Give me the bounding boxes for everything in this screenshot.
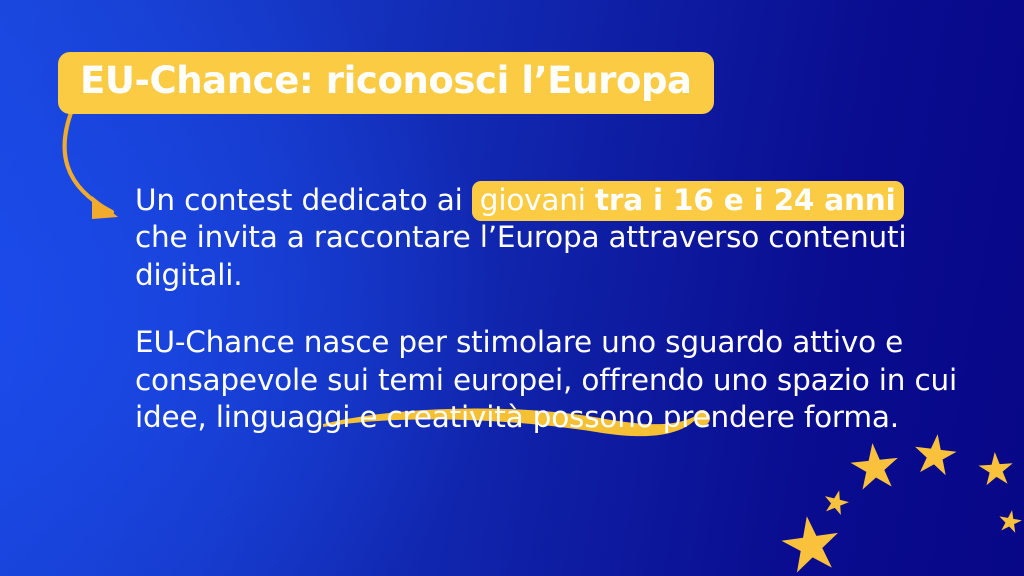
star-icon	[997, 508, 1023, 533]
star-icon	[912, 432, 958, 477]
paragraph-1: Un contest dedicato ai giovani tra i 16 …	[135, 182, 965, 294]
curved-arrow-head	[92, 196, 118, 219]
star-icon	[779, 512, 843, 574]
highlight-bold-text: tra i 16 e i 24 anni	[595, 183, 896, 217]
star-icon	[978, 451, 1014, 486]
page-title: EU-Chance: riconosci l’Europa	[58, 52, 714, 114]
curved-arrow-shaft	[65, 110, 112, 212]
age-range-highlight: giovani tra i 16 e i 24 anni	[472, 181, 904, 221]
paragraph-2: EU-Chance nasce per stimolare uno sguard…	[135, 324, 965, 436]
star-icon	[821, 487, 851, 516]
slide-canvas: EU-Chance: riconosci l’Europa Un contest…	[0, 0, 1024, 576]
body-copy: Un contest dedicato ai giovani tra i 16 …	[135, 182, 965, 437]
star-icon	[849, 441, 901, 491]
highlight-regular-text: giovani	[480, 183, 595, 217]
paragraph-1-trail: che invita a raccontare l’Europa attrave…	[135, 220, 906, 291]
paragraph-1-lead: Un contest dedicato ai	[135, 183, 472, 217]
